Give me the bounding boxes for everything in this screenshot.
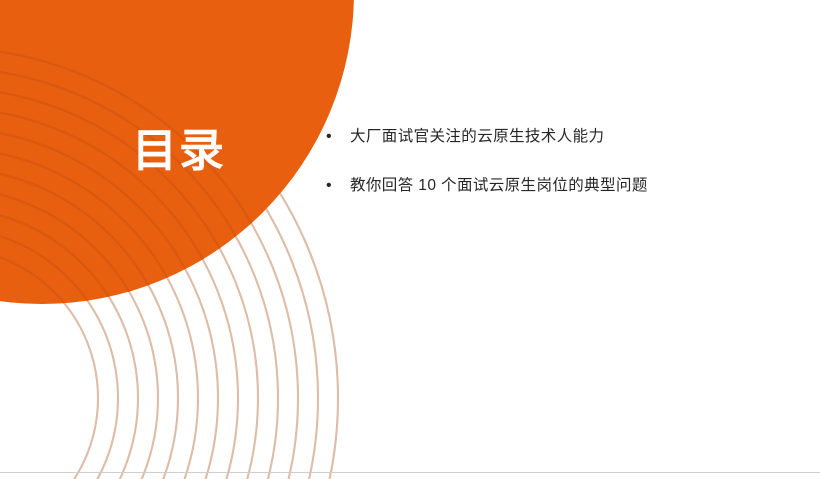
bullet-dot-icon: •: [326, 174, 350, 198]
bullet-dot-icon: •: [326, 125, 350, 149]
list-item-label: 大厂面试官关注的云原生技术人能力: [350, 125, 786, 149]
page-title: 目录: [74, 128, 226, 173]
title-block: 目录: [0, 118, 300, 182]
agenda-list: • 大厂面试官关注的云原生技术人能力 • 教你回答 10 个面试云原生岗位的典型…: [326, 125, 786, 223]
list-item-label: 教你回答 10 个面试云原生岗位的典型问题: [350, 174, 786, 198]
slide-canvas: 目录 • 大厂面试官关注的云原生技术人能力 • 教你回答 10 个面试云原生岗位…: [0, 0, 820, 479]
background-decoration: [0, 0, 820, 479]
footer-divider: [0, 472, 820, 473]
list-item[interactable]: • 大厂面试官关注的云原生技术人能力: [326, 125, 786, 149]
arc-rings-outer: [0, 8, 338, 479]
list-item[interactable]: • 教你回答 10 个面试云原生岗位的典型问题: [326, 174, 786, 198]
arc-rings-inner: [0, 48, 298, 479]
